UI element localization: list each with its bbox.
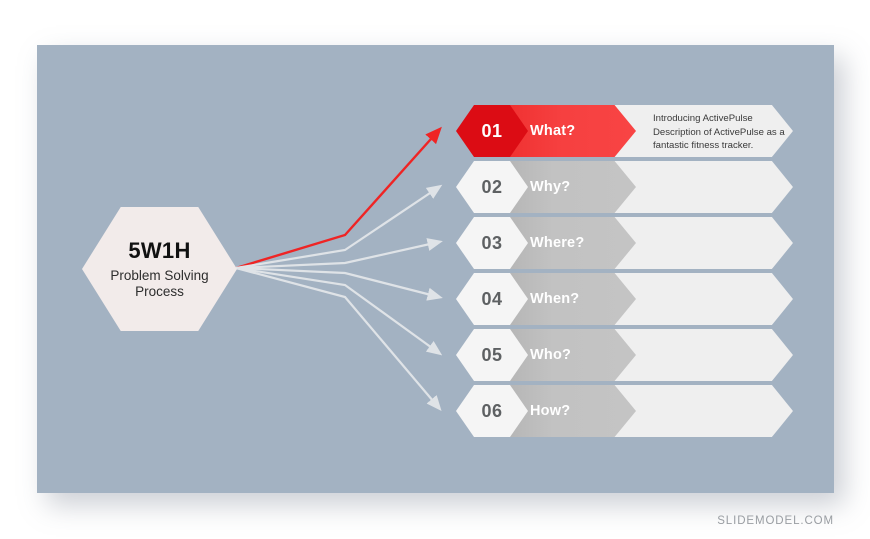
connector-arrow-06	[236, 268, 439, 408]
connector-arrow-05	[236, 268, 439, 353]
central-hexagon: 5W1H Problem Solving Process	[82, 207, 237, 331]
footer-brand: SLIDEMODEL.COM	[717, 515, 834, 527]
connector-arrow-04	[236, 268, 439, 297]
process-row-03[interactable]: Where? 03	[456, 217, 793, 269]
process-row-02[interactable]: Why? 02	[456, 161, 793, 213]
central-hexagon-title: 5W1H	[128, 238, 190, 264]
central-hexagon-subtitle: Problem Solving Process	[82, 268, 237, 300]
connector-arrow-01	[236, 130, 439, 268]
central-hexagon-subtitle-line-1: Problem Solving	[110, 268, 208, 283]
connector-arrow-02	[236, 187, 439, 268]
row-number: 04	[481, 289, 502, 310]
row-description-line-2: Description of ActivePulse as a	[653, 126, 834, 140]
central-hexagon-subtitle-line-2: Process	[135, 284, 184, 299]
row-number: 05	[481, 345, 502, 366]
row-description: Introducing ActivePulse Description of A…	[653, 112, 834, 153]
row-number: 06	[481, 401, 502, 422]
row-number: 01	[481, 121, 502, 142]
process-row-05[interactable]: Who? 05	[456, 329, 793, 381]
row-number: 03	[481, 233, 502, 254]
row-description-line-3: fantastic fitness tracker.	[653, 139, 834, 153]
process-row-04[interactable]: When? 04	[456, 273, 793, 325]
connector-arrow-03	[236, 242, 439, 268]
row-description-line-1: Introducing ActivePulse	[653, 112, 834, 126]
slide-canvas: 5W1H Problem Solving Process What? 01 In…	[37, 45, 834, 493]
process-row-06[interactable]: How? 06	[456, 385, 793, 437]
process-row-01[interactable]: What? 01 Introducing ActivePulse Descrip…	[456, 105, 793, 157]
row-number: 02	[481, 177, 502, 198]
